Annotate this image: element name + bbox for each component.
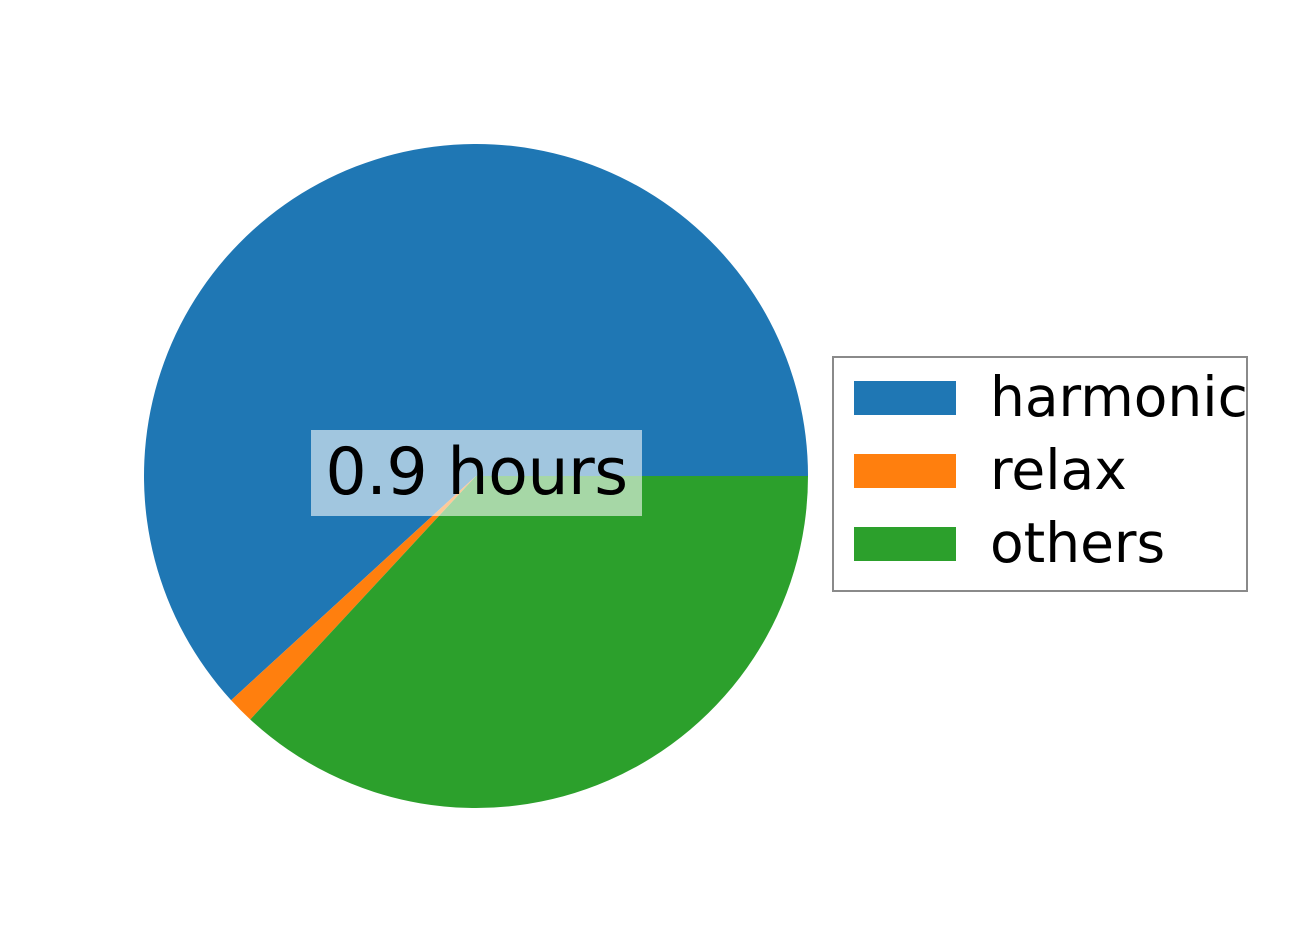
legend-item-others[interactable]: others [834, 513, 1246, 573]
legend-swatch-others [854, 527, 956, 561]
legend-swatch-harmonic [854, 381, 956, 415]
figure-canvas: 0.9 hours harmonic relax others [0, 0, 1307, 951]
legend-swatch-relax [854, 454, 956, 488]
legend-label-others: others [990, 513, 1165, 573]
legend-label-relax: relax [990, 440, 1127, 500]
legend: harmonic relax others [832, 356, 1248, 592]
legend-item-relax[interactable]: relax [834, 440, 1246, 500]
legend-label-harmonic: harmonic [990, 367, 1248, 427]
legend-item-harmonic[interactable]: harmonic [834, 367, 1246, 427]
pie-value-label: 0.9 hours [311, 430, 642, 516]
